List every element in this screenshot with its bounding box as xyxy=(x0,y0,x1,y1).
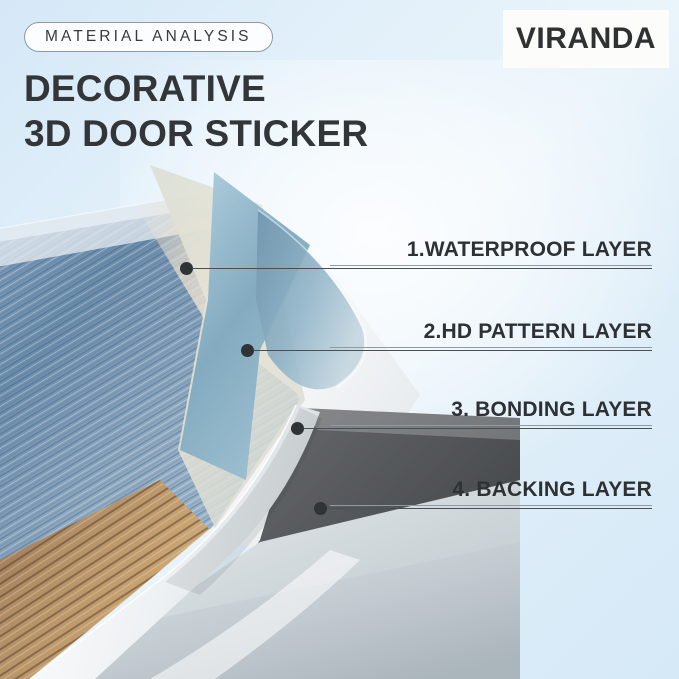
poster-canvas: MATERIAL ANALYSIS DECORATIVE 3D DOOR STI… xyxy=(0,0,679,679)
page-title: DECORATIVE 3D DOOR STICKER xyxy=(24,66,368,156)
page-title-line-2: 3D DOOR STICKER xyxy=(24,111,368,156)
callout-4-label: 4. BACKING LAYER xyxy=(330,478,652,505)
eyebrow-label: MATERIAL ANALYSIS xyxy=(45,28,252,46)
brand-name: VIRANDA xyxy=(516,22,656,56)
callout-3-rule xyxy=(330,425,652,426)
callout-3-label: 3. BONDING LAYER xyxy=(330,398,652,425)
page-title-line-1: DECORATIVE xyxy=(24,68,266,109)
callout-dot-1 xyxy=(180,262,193,275)
callout-dot-4 xyxy=(314,502,327,515)
callout-2-rule xyxy=(330,347,652,348)
callout-leader-4 xyxy=(327,508,652,509)
callout-leader-2 xyxy=(254,350,652,351)
callout-2-label: 2.HD PATTERN LAYER xyxy=(330,320,652,347)
eyebrow-badge: MATERIAL ANALYSIS xyxy=(24,22,273,52)
brand-logo: VIRANDA xyxy=(503,10,669,68)
callout-leader-3 xyxy=(304,428,652,429)
callout-1: 1.WATERPROOF LAYER xyxy=(330,238,652,266)
callout-1-rule xyxy=(330,265,652,266)
callout-dot-2 xyxy=(241,344,254,357)
callout-2: 2.HD PATTERN LAYER xyxy=(330,320,652,348)
callout-4-rule xyxy=(330,505,652,506)
callout-1-label: 1.WATERPROOF LAYER xyxy=(330,238,652,265)
callout-3: 3. BONDING LAYER xyxy=(330,398,652,426)
callout-leader-1 xyxy=(193,268,652,269)
callout-dot-3 xyxy=(291,422,304,435)
callout-4: 4. BACKING LAYER xyxy=(330,478,652,506)
